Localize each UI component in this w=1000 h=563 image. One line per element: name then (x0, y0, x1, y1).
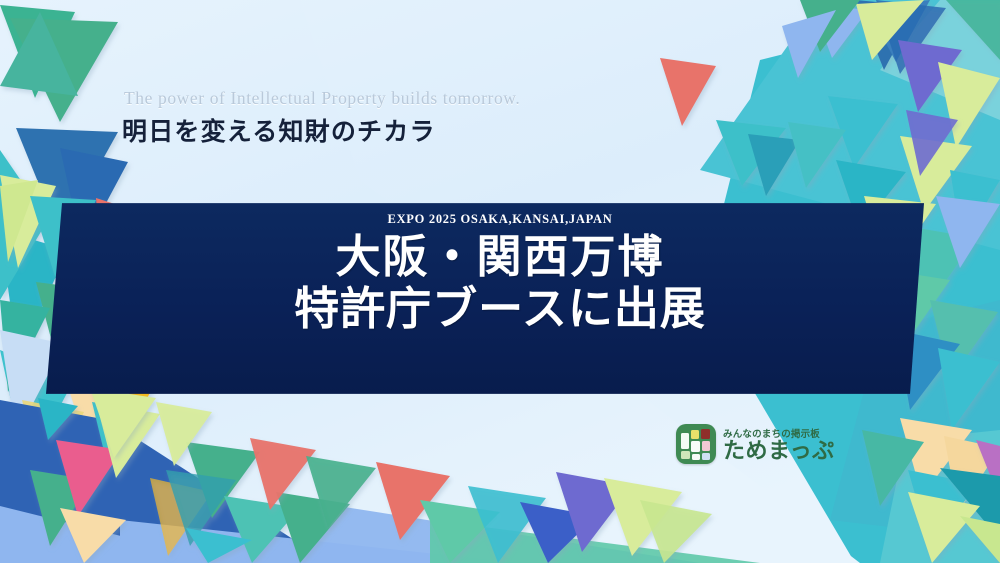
bottom-middle-triangles (90, 388, 712, 563)
poster-canvas: The power of Intellectual Property build… (0, 0, 1000, 563)
bottom-right-triangles (908, 440, 1000, 563)
bottom-left-triangles (30, 398, 212, 563)
english-tagline: The power of Intellectual Property build… (124, 88, 520, 109)
logo-tile-2 (691, 430, 699, 439)
logo-text-group: みんなのまちの掲示板 ためまっぷ (723, 426, 835, 463)
banner-content: EXPO 2025 OSAKA,KANSAI,JAPAN 大阪・関西万博 特許庁… (0, 196, 1000, 401)
banner-title: 大阪・関西万博 特許庁ブースに出展 (294, 231, 706, 335)
top-middle-triangles (660, 0, 1000, 196)
logo-tile-6 (681, 451, 690, 459)
logo-tile-1 (681, 433, 689, 449)
tamemap-logo: みんなのまちの掲示板 ためまっぷ (676, 424, 835, 464)
expo-banner: EXPO 2025 OSAKA,KANSAI,JAPAN 大阪・関西万博 特許庁… (0, 196, 1000, 401)
logo-tile-4 (691, 441, 700, 452)
logo-tile-3 (701, 429, 710, 439)
bottom-left-accents (156, 402, 376, 528)
logo-name: ためまっぷ (723, 441, 835, 463)
logo-tile-5 (702, 441, 710, 451)
logo-tile-8 (702, 453, 710, 460)
headline-block: The power of Intellectual Property build… (122, 88, 520, 148)
expo-eyebrow: EXPO 2025 OSAKA,KANSAI,JAPAN (388, 212, 613, 227)
bottom-wedge (0, 400, 760, 563)
banner-title-line1: 大阪・関西万博 (294, 231, 706, 283)
japanese-tagline: 明日を変える知財のチカラ (122, 112, 520, 148)
logo-tile-7 (692, 454, 700, 460)
banner-title-line2: 特許庁ブースに出展 (294, 283, 706, 335)
logo-tagline: みんなのまちの掲示板 (723, 426, 835, 440)
tamemap-logo-icon (676, 424, 716, 464)
